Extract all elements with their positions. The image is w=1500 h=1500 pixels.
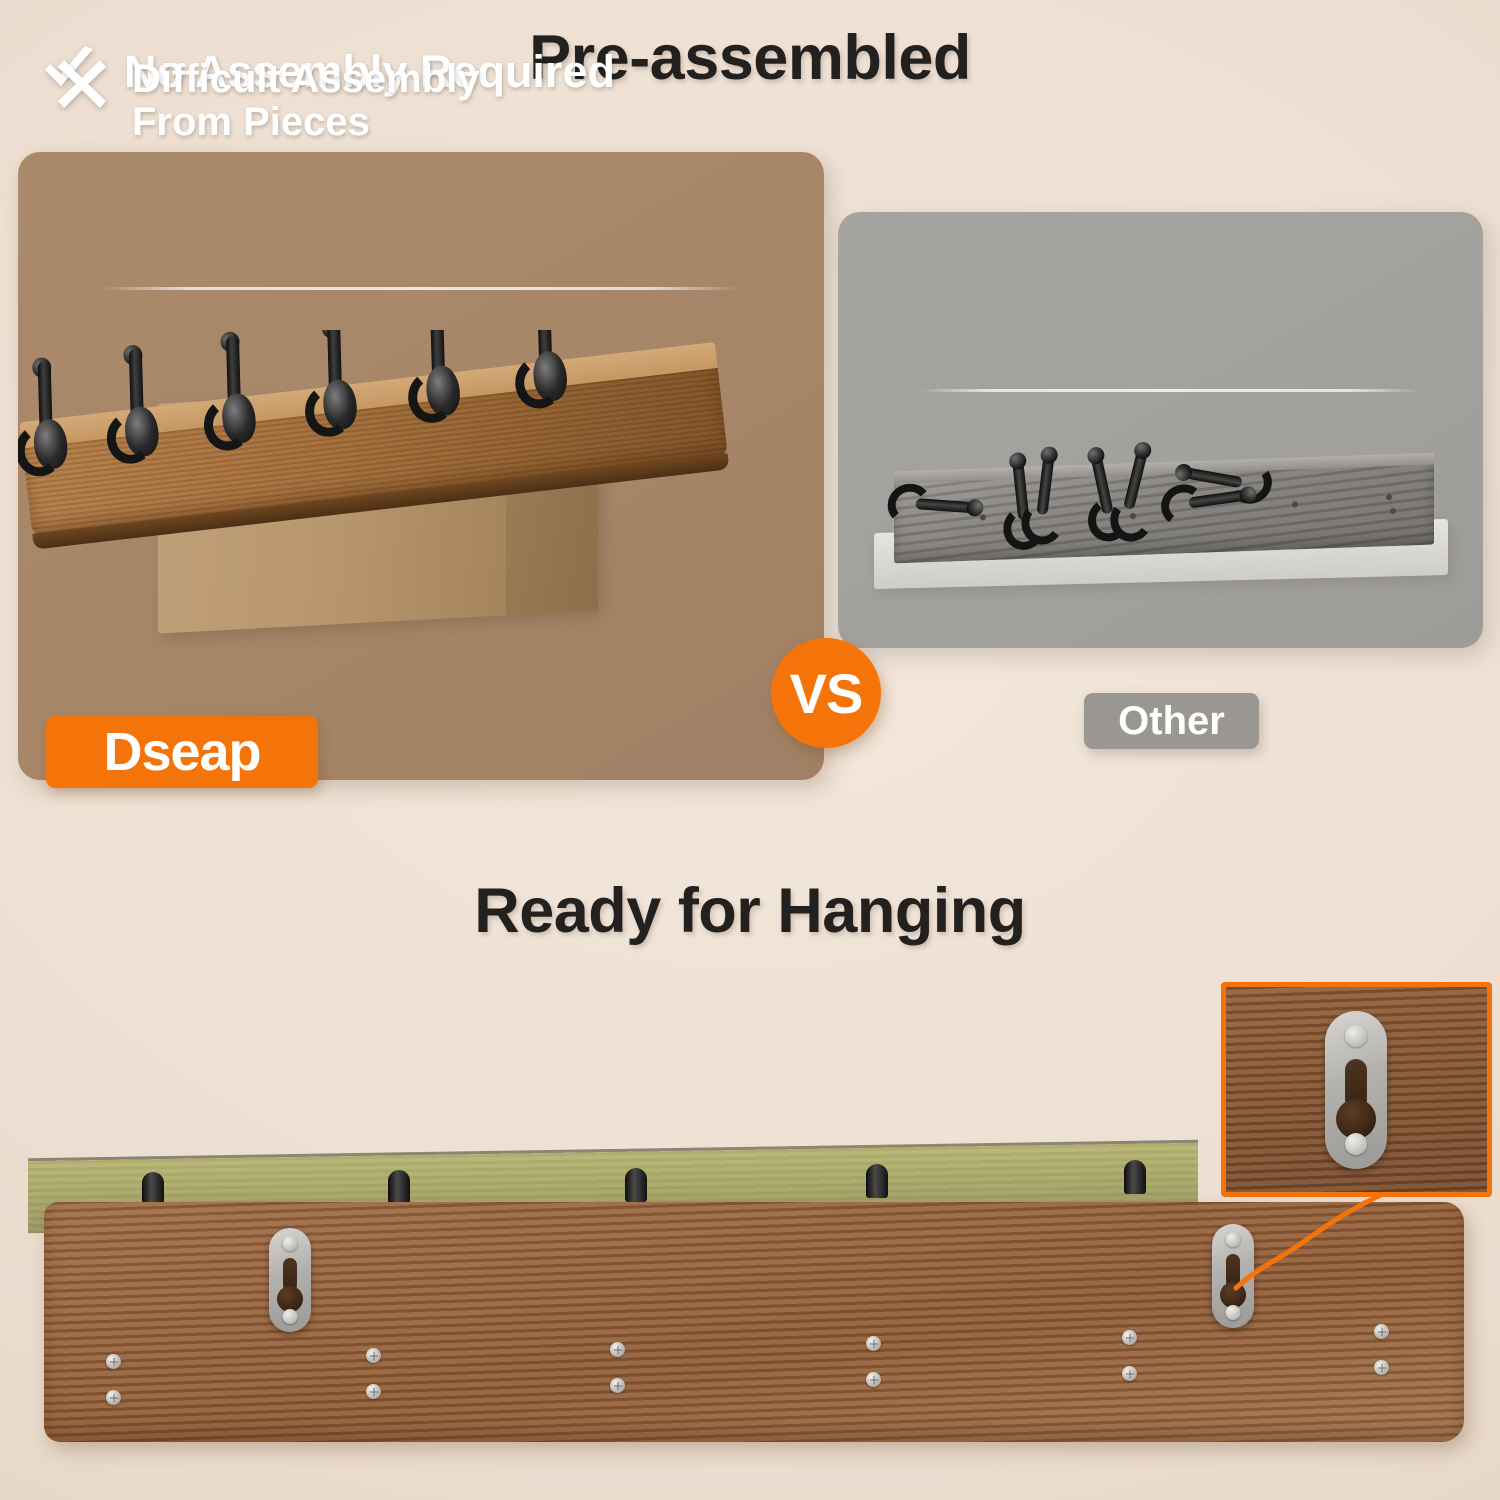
- photo-pre-assembled-rack: [18, 330, 824, 730]
- bad-heading-group: Difficult Assembly From Pieces: [56, 58, 479, 144]
- screw: [366, 1348, 381, 1363]
- rack-back-board: [44, 1202, 1464, 1442]
- hook-tip: [866, 1164, 888, 1198]
- hook: [112, 347, 164, 461]
- hook-tip: [388, 1170, 410, 1204]
- screw: [106, 1354, 121, 1369]
- hook: [310, 330, 362, 434]
- bad-heading-line2: From Pieces: [132, 100, 370, 144]
- marketing-infographic: Pre-assembled: [0, 0, 1500, 1500]
- screw: [610, 1378, 625, 1393]
- hook: [21, 359, 73, 473]
- brand-badge-other: Other: [1084, 693, 1259, 749]
- keyhole-plate-icon: [1325, 1011, 1387, 1169]
- screw: [1122, 1366, 1137, 1381]
- hook-tip: [1124, 1160, 1146, 1194]
- divider-left: [100, 287, 740, 290]
- screw: [1374, 1360, 1389, 1375]
- screw: [866, 1372, 881, 1387]
- hook: [413, 330, 465, 420]
- hook: [209, 334, 261, 448]
- keyhole-plate: [269, 1228, 311, 1332]
- gray-wood-plank: [894, 453, 1434, 564]
- versus-badge: VS: [771, 638, 881, 748]
- screw: [1122, 1330, 1137, 1345]
- bad-heading-text: Difficult Assembly From Pieces: [132, 58, 479, 144]
- screw: [366, 1384, 381, 1399]
- page-title-ready-for-hanging: Ready for Hanging: [0, 875, 1500, 947]
- screw: [610, 1342, 625, 1357]
- photo-unassembled-parts: [838, 400, 1483, 648]
- screw: [1374, 1324, 1389, 1339]
- brand-badge-dseap: Dseap: [46, 716, 318, 788]
- cross-icon: [56, 58, 108, 110]
- divider-right: [920, 389, 1420, 392]
- hook-tip: [142, 1172, 164, 1206]
- bad-heading-line1: Difficult Assembly: [132, 57, 479, 101]
- screw: [866, 1336, 881, 1351]
- screw: [106, 1390, 121, 1405]
- keyhole-plate: [1212, 1224, 1254, 1328]
- hook: [520, 330, 572, 405]
- hook-tip: [625, 1168, 647, 1202]
- keyhole-detail-callout: [1221, 982, 1492, 1197]
